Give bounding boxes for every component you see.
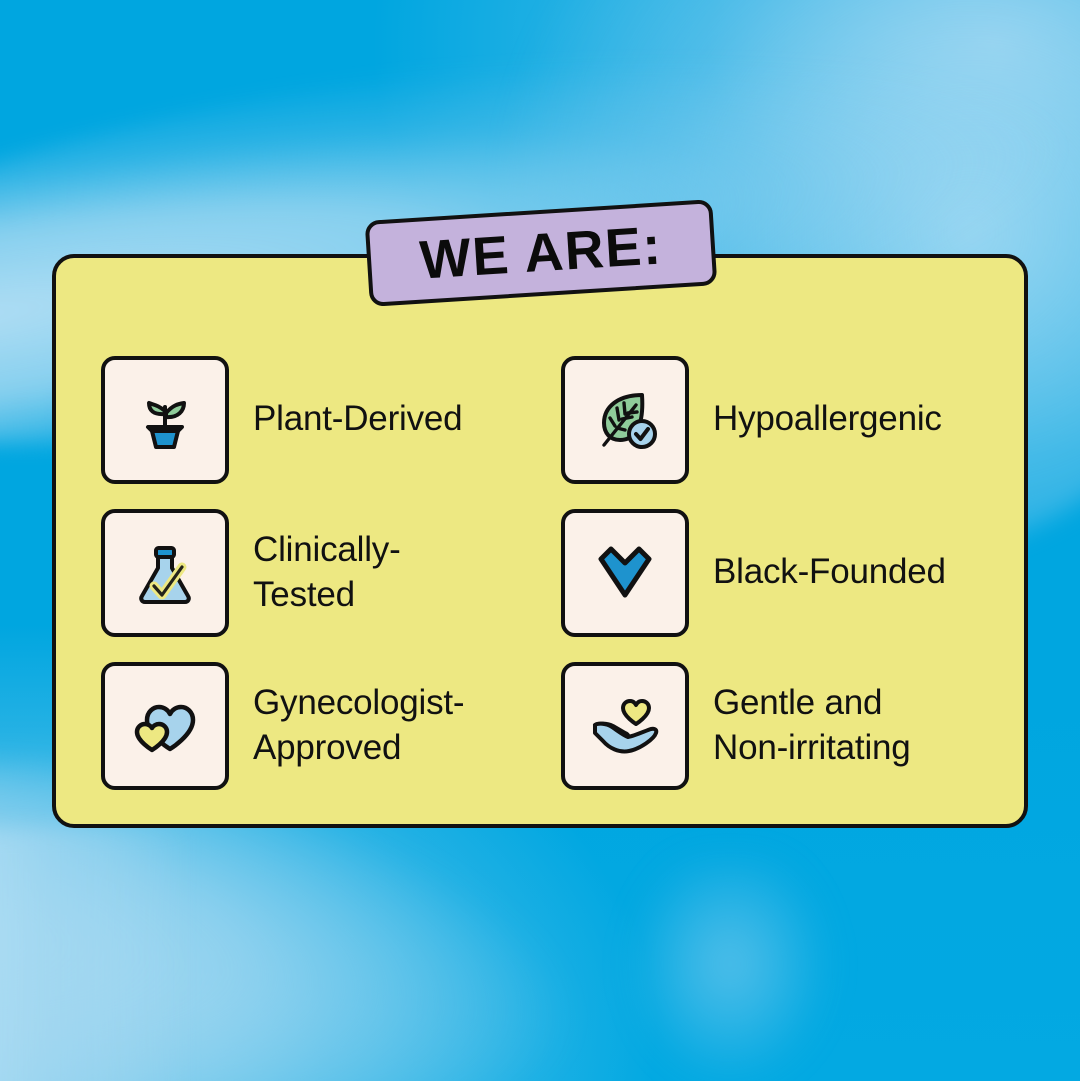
feature-label: Black-Founded (713, 550, 946, 595)
background-strip-left (0, 830, 190, 1081)
feature-item-gentle-non-irritating: Gentle and Non-irritating (561, 649, 991, 802)
feature-label-line1: Clinically- (253, 528, 401, 573)
feature-label: Gynecologist- Approved (253, 681, 464, 771)
feature-label-line2: Tested (253, 573, 401, 618)
feature-item-clinically-tested: Clinically- Tested (101, 496, 561, 649)
feature-item-black-founded: Black-Founded (561, 496, 991, 649)
feature-label-line1: Plant-Derived (253, 399, 462, 438)
promo-graphic: Plant-Derived (0, 0, 1080, 1081)
feature-label-line1: Gentle and (713, 681, 911, 726)
feature-label: Gentle and Non-irritating (713, 681, 911, 771)
feature-label-line2: Approved (253, 726, 464, 771)
feature-icon-tile (101, 509, 229, 637)
feature-label: Plant-Derived (253, 397, 462, 442)
potted-plant-icon (128, 383, 202, 457)
feature-label-line1: Black-Founded (713, 552, 946, 591)
we-are-badge-label: WE ARE: (418, 218, 663, 287)
feature-icon-tile (561, 356, 689, 484)
feature-item-hypoallergenic: Hypoallergenic (561, 343, 991, 496)
feature-label-line1: Gynecologist- (253, 681, 464, 726)
features-grid: Plant-Derived (101, 343, 991, 802)
angular-heart-icon (585, 533, 665, 613)
feature-icon-tile (101, 356, 229, 484)
feature-label-line1: Hypoallergenic (713, 399, 942, 438)
feature-icon-tile (561, 662, 689, 790)
flask-check-icon (128, 536, 202, 610)
feature-item-plant-derived: Plant-Derived (101, 343, 561, 496)
background-band-bottom (600, 860, 860, 1081)
leaf-check-icon (588, 383, 662, 457)
hand-heart-icon (585, 686, 665, 766)
feature-icon-tile (101, 662, 229, 790)
feature-label: Hypoallergenic (713, 397, 942, 442)
feature-icon-tile (561, 509, 689, 637)
feature-label-line2: Non-irritating (713, 726, 911, 771)
two-hearts-icon (126, 687, 204, 765)
feature-item-gynecologist-approved: Gynecologist- Approved (101, 649, 561, 802)
features-card: Plant-Derived (52, 254, 1028, 828)
feature-label: Clinically- Tested (253, 528, 401, 618)
